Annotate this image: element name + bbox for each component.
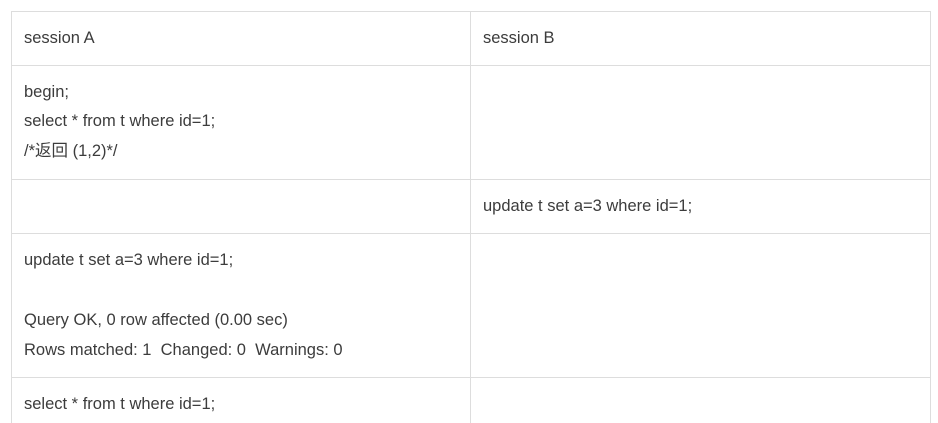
table-row: update t set a=3 where id=1;	[12, 179, 931, 234]
cell-session-b	[471, 65, 931, 179]
column-header-session-a: session A	[12, 12, 471, 66]
code-line: update t set a=3 where id=1;	[24, 246, 470, 276]
table-header-row: session A session B	[12, 12, 931, 66]
table-row: begin;select * from t where id=1;/*返回 (1…	[12, 65, 931, 179]
cell-session-a: select * from t where id=1;/*返回 (1,3)*/	[12, 378, 471, 423]
cell-session-a: begin;select * from t where id=1;/*返回 (1…	[12, 65, 471, 179]
cell-session-b	[471, 234, 931, 378]
code-line: Query OK, 0 row affected (0.00 sec)	[24, 306, 470, 336]
code-line: /*返回 (1,2)*/	[24, 137, 470, 167]
code-line: update t set a=3 where id=1;	[483, 192, 930, 222]
session-comparison-table: session A session B begin;select * from …	[11, 11, 931, 423]
cell-session-a	[12, 179, 471, 234]
blank-line	[24, 276, 470, 306]
code-line: select * from t where id=1;	[24, 107, 470, 137]
table-row: select * from t where id=1;/*返回 (1,3)*/	[12, 378, 931, 423]
column-header-session-b: session B	[471, 12, 931, 66]
cell-session-a: update t set a=3 where id=1;Query OK, 0 …	[12, 234, 471, 378]
page-root: session A session B begin;select * from …	[0, 0, 938, 423]
code-line: begin;	[24, 78, 470, 108]
code-line: select * from t where id=1;	[24, 390, 470, 420]
session-comparison-table-wrapper: session A session B begin;select * from …	[11, 11, 930, 423]
cell-session-b: update t set a=3 where id=1;	[471, 179, 931, 234]
code-line: Rows matched: 1 Changed: 0 Warnings: 0	[24, 336, 470, 366]
cell-session-b	[471, 378, 931, 423]
table-header: session A session B	[12, 12, 931, 66]
table-row: update t set a=3 where id=1;Query OK, 0 …	[12, 234, 931, 378]
table-body: begin;select * from t where id=1;/*返回 (1…	[12, 65, 931, 423]
